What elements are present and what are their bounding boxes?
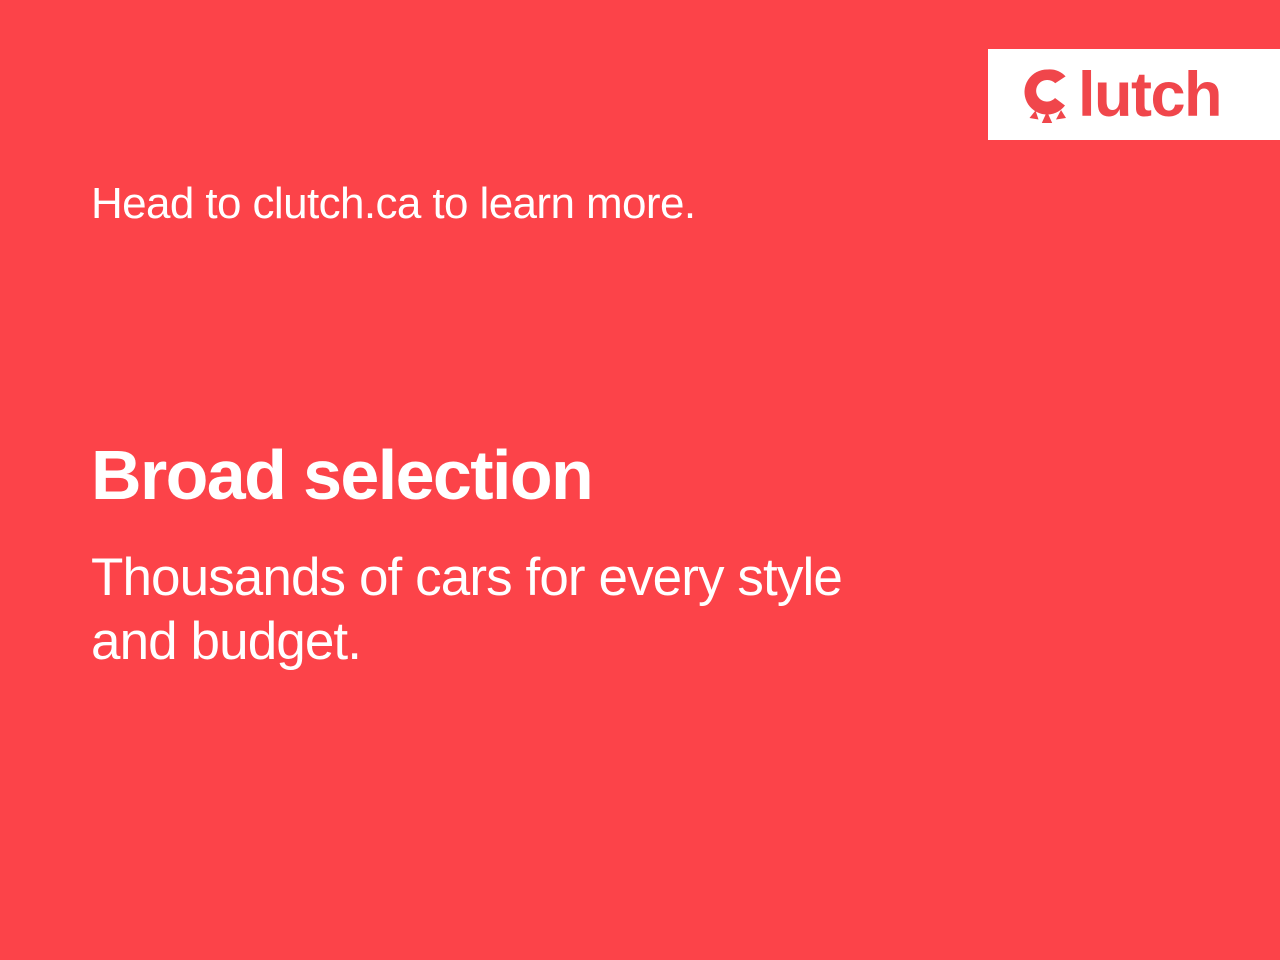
subhead-line-2: and budget. (91, 610, 1051, 674)
page-title: Broad selection (91, 440, 592, 511)
clutch-logo-badge[interactable]: lutch (988, 49, 1280, 140)
subhead-text: Thousands of cars for every style and bu… (91, 546, 1051, 674)
eyebrow-text: Head to clutch.ca to learn more. (91, 181, 695, 227)
clutch-c-mark-icon (1021, 66, 1073, 124)
logo-lockup: lutch (1021, 63, 1221, 126)
clutch-wordmark: lutch (1078, 64, 1221, 127)
promo-slide: lutch Head to clutch.ca to learn more. B… (0, 0, 1280, 960)
subhead-line-1: Thousands of cars for every style (91, 546, 1051, 610)
